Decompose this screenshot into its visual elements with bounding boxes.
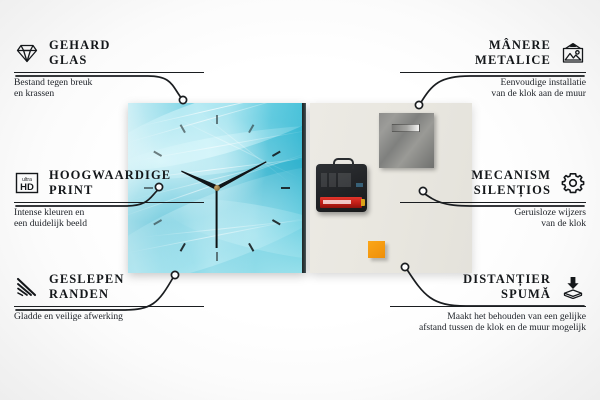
svg-text:HD: HD [20,182,34,193]
feature-title-line1: MECANISM [471,168,551,183]
feature-divider [400,72,586,73]
feature-distantier-spuma: DISTANȚIER SPUMĂ Maakt het behouden van … [390,272,586,334]
feature-desc-line2: van de klok aan de muur [400,88,586,100]
feature-divider [400,202,586,203]
feature-divider [14,72,204,73]
feature-divider [14,306,204,307]
clock-center-cap [214,185,220,191]
feature-divider [14,202,204,203]
feature-desc-line1: Gladde en veilige afwerking [14,311,204,323]
feature-desc-line2: van de klok [400,218,586,230]
feature-title-line2: GLAS [49,53,110,68]
feature-title-line1: GEHARD [49,38,110,53]
gear-icon [560,171,586,195]
clock-mechanism [316,164,367,212]
battery-label [323,200,351,204]
feature-desc-line1: Maakt het behouden van een gelijke [390,311,586,323]
feature-title-line2: RANDEN [49,287,125,302]
feature-desc-line2: een duidelijk beeld [14,218,204,230]
feature-gehard-glas: GEHARD GLAS Bestand tegen breuk en krass… [14,38,204,100]
clock-second-hand [216,188,218,248]
foam-spacer [368,241,385,258]
feature-desc-line1: Geruisloze wijzers [400,207,586,219]
feature-title-line1: MÂNERE [475,38,551,53]
mechanism-label [321,173,351,187]
infographic-canvas: GEHARD GLAS Bestand tegen breuk en krass… [0,0,600,400]
feature-divider [390,306,586,307]
feature-desc-line2: en krassen [14,88,204,100]
feature-mecanism-silentios: MECANISM SILENȚIOS Geruisloze wijzers va… [400,168,586,230]
mechanism-indicator [356,183,363,187]
ultra-hd-icon: ultra HD [14,171,40,195]
feature-title-line1: GESLEPEN [49,272,125,287]
glass-panel-edge [302,103,306,273]
clock-minute-hand [216,160,267,190]
feature-hoogwaardige-print: ultra HD HOOGWAARDIGE PRINT Intense kleu… [14,168,204,230]
diamond-icon [14,41,40,65]
feature-geslepen-randen: GESLEPEN RANDEN Gladde en veilige afwerk… [14,272,204,322]
feature-manere-metalice: MÂNERE METALICE Eenvoudige installatie v… [400,38,586,100]
feature-desc-line1: Intense kleuren en [14,207,204,219]
metal-hanger-plate [379,113,434,168]
battery [320,197,362,208]
feature-title-line2: PRINT [49,183,171,198]
feature-desc-line1: Bestand tegen breuk [14,77,204,89]
framed-picture-hanging-icon [560,41,586,65]
feature-title-line2: METALICE [475,53,551,68]
feature-title-line1: HOOGWAARDIGE [49,168,171,183]
spacer-arrow-down-icon [560,275,586,299]
feature-title-line2: SPUMĂ [463,287,551,302]
feature-desc-line2: afstand tussen de klok en de muur mogeli… [390,322,586,334]
feature-desc-line1: Eenvoudige installatie [400,77,586,89]
beveled-edges-icon [14,275,40,299]
feature-title-line1: DISTANȚIER [463,272,551,287]
mechanism-hanger-loop [333,158,354,169]
feature-title-line2: SILENȚIOS [471,183,551,198]
